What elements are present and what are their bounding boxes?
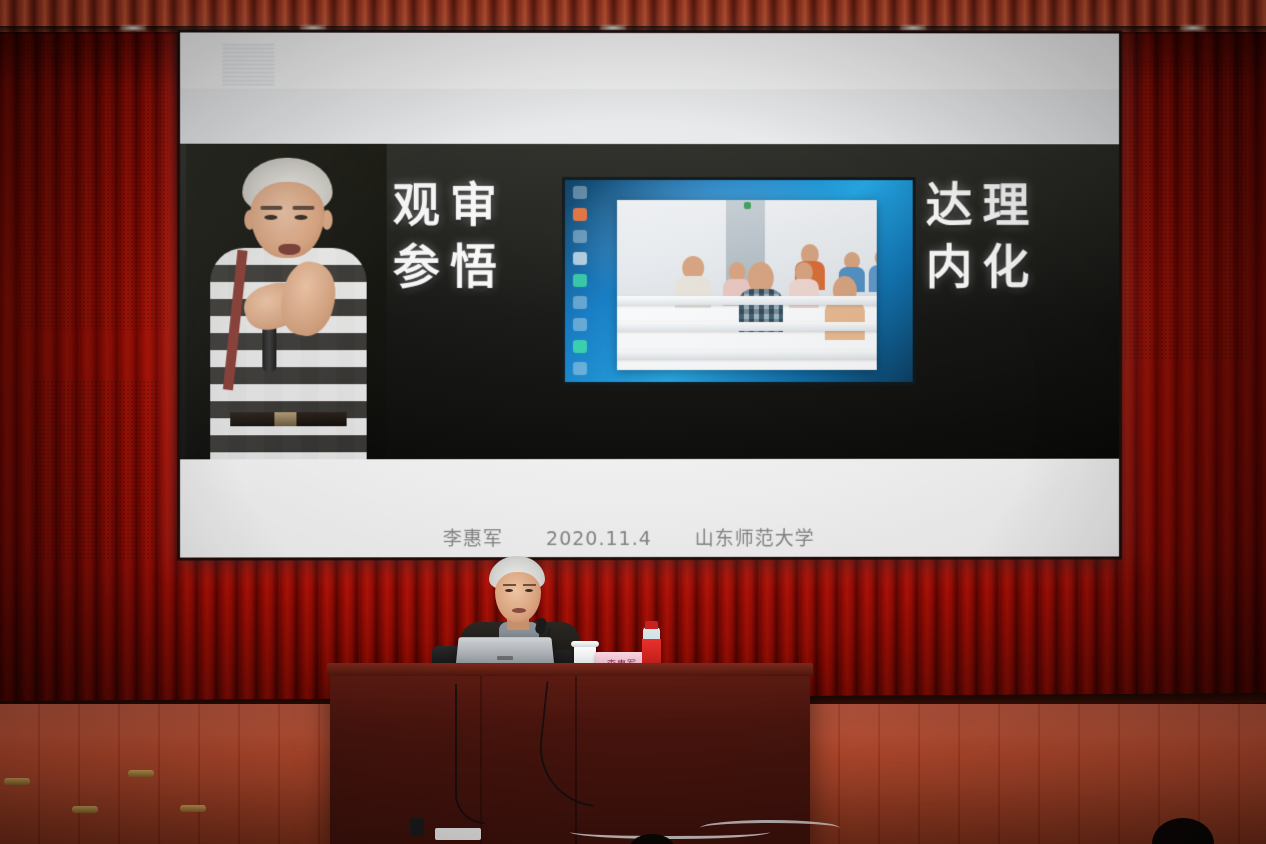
dock-icon	[573, 296, 587, 309]
slide-top-band	[180, 32, 1119, 89]
dock-icon	[573, 186, 587, 199]
desktop-dock	[571, 186, 591, 376]
ceiling-downlight	[300, 25, 326, 31]
ceiling-downlight	[120, 25, 146, 31]
lecture-hall-scene: 观审 参悟 达理 内化 ——师范院校历史专业本硕士同学见习听课的视域与视点 李惠…	[0, 0, 1266, 844]
byline-presenter: 李惠军	[443, 528, 503, 550]
dock-icon	[573, 340, 587, 353]
projection-screen: 观审 参悟 达理 内化 ——师范院校历史专业本硕士同学见习听课的视域与视点 李惠…	[180, 32, 1119, 557]
floor-outlet	[128, 770, 154, 777]
white-cable	[700, 820, 840, 836]
ceiling-downlight	[900, 25, 926, 31]
byline-date: 2020.11.4	[546, 528, 652, 550]
water-bottle-cap	[645, 621, 658, 629]
teacup-lid	[571, 641, 599, 647]
slide-word: 观审	[393, 182, 507, 230]
dock-icon	[573, 274, 587, 287]
presentation-slide: 观审 参悟 达理 内化 ——师范院校历史专业本硕士同学见习听课的视域与视点 李惠…	[180, 32, 1119, 557]
slide-word: 达理	[926, 182, 1040, 230]
slide-word: 内化	[926, 244, 1040, 292]
logo-icon	[222, 44, 274, 86]
classroom-photo	[617, 200, 877, 370]
table-top-edge	[327, 663, 813, 676]
slide-footer-area: 李惠军 2020.11.4 山东师范大学	[180, 459, 1119, 558]
floor-outlet	[4, 778, 30, 785]
dock-icon	[573, 208, 587, 221]
slide-word: 参悟	[393, 244, 507, 292]
slide-words-left: 观审 参悟	[393, 182, 507, 292]
byline-institution: 山东师范大学	[695, 528, 815, 550]
water-bottle-label	[642, 639, 661, 665]
ceiling-downlight	[600, 25, 626, 31]
slide-hero-block: 观审 参悟 达理 内化 ——师范院校历史专业本硕士同学见习听课的视域与视点	[180, 144, 1119, 460]
floor-outlet	[180, 805, 206, 812]
slide-byline: 李惠军 2020.11.4 山东师范大学	[443, 524, 815, 551]
laptop-logo-icon	[497, 656, 513, 660]
dock-icon	[573, 230, 587, 243]
floor-outlet	[72, 806, 98, 813]
slide-words-right: 达理 内化	[926, 182, 1040, 292]
floor-plug	[410, 818, 424, 836]
dock-icon	[573, 252, 587, 265]
presenter-portrait-image	[186, 144, 387, 460]
power-strip	[435, 828, 481, 840]
dock-icon	[573, 362, 587, 375]
slide-secondary-band	[180, 89, 1119, 147]
cable	[455, 684, 485, 824]
classroom-photo-inset	[565, 180, 913, 382]
dock-icon	[573, 318, 587, 331]
ceiling-downlight	[1180, 25, 1206, 31]
